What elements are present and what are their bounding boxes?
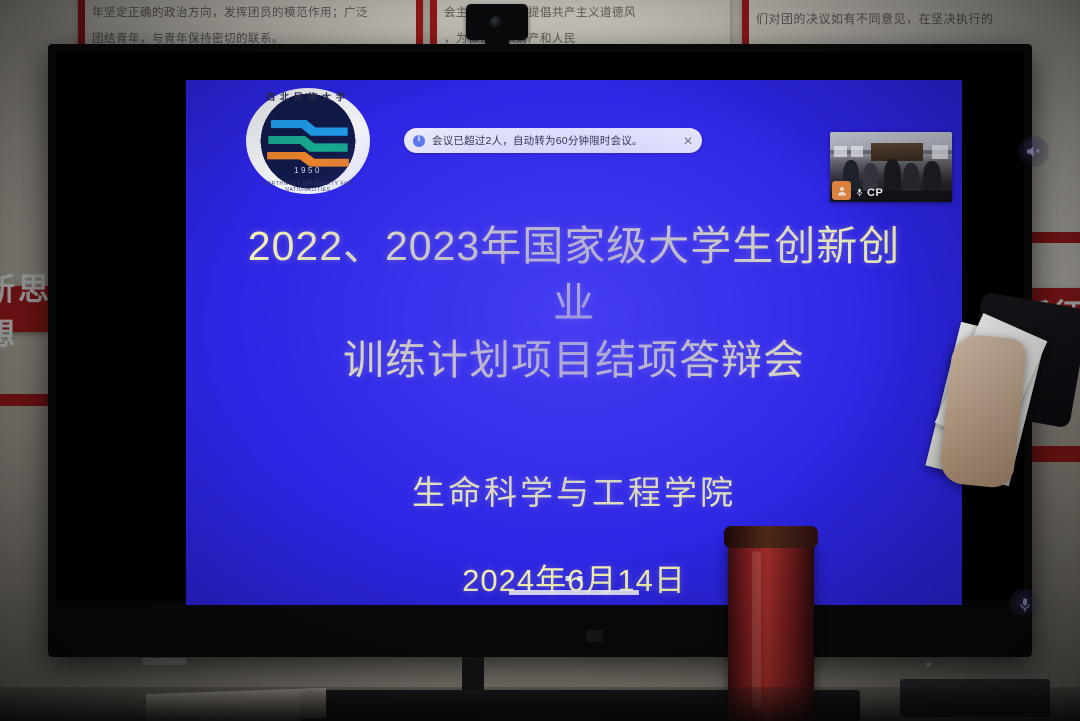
info-icon (413, 135, 425, 147)
close-icon[interactable]: ✕ (683, 135, 693, 147)
infrared-sensor (586, 630, 603, 642)
slide-title-line-1: 2022、2023年国家级大学生创新创 (198, 218, 950, 275)
display-monitor: 西北民族大学 1950 NORTHWEST UNIVERSITY FOR NAT… (48, 44, 1032, 657)
seal-english-name: NORTHWEST UNIVERSITY FOR NATIONALITIES (249, 181, 367, 193)
person-icon (832, 181, 851, 200)
presentation-screen: 西北民族大学 1950 NORTHWEST UNIVERSITY FOR NAT… (186, 80, 962, 605)
meeting-notice-text: 会议已超过2人，自动转为60分钟限时会议。 (432, 133, 676, 148)
participant-video-tile[interactable]: CP (830, 132, 952, 202)
slide-marker-dot (578, 576, 583, 581)
speaker-muted-icon[interactable] (1018, 136, 1049, 167)
meeting-notice-banner[interactable]: 会议已超过2人，自动转为60分钟限时会议。 ✕ (404, 128, 702, 153)
participant-label-group: CP (855, 186, 883, 199)
thermos-cap (724, 526, 818, 548)
participant-name: CP (867, 187, 883, 199)
microphone-icon (855, 186, 864, 199)
video-window (834, 146, 847, 157)
seal-founding-year: 1950 (246, 166, 370, 175)
slide-title-line-3: 训练计划项目结项答辩会 (198, 332, 950, 389)
microphone-icon[interactable] (1009, 589, 1040, 620)
foreground-table-edge (0, 687, 1080, 721)
slide-markers (566, 576, 583, 581)
video-person (884, 159, 901, 194)
slide-organization: 生命科学与工程学院 (186, 466, 962, 514)
slide-content: 西北民族大学 1950 NORTHWEST UNIVERSITY FOR NAT… (186, 80, 962, 605)
seal-chinese-name: 西北民族大学 (246, 90, 370, 103)
hand-holding-papers (938, 333, 1027, 490)
video-window (851, 146, 863, 157)
university-seal-logo: 西北民族大学 1950 NORTHWEST UNIVERSITY FOR NAT… (246, 88, 370, 194)
camera-lens-icon (490, 16, 503, 29)
monitor-brand-logo (142, 658, 186, 665)
presentation-room-scene: 年坚定正确的政治方向，发挥团员的模范作用；广泛 团结青年，与青年保持密切的联系。… (0, 0, 1080, 721)
monitor-indicator-light (926, 662, 931, 667)
video-person (903, 163, 919, 194)
video-window (932, 145, 948, 159)
webcam-device (466, 4, 528, 40)
video-chalkboard (871, 143, 922, 161)
slide-title-line-2: 业 (198, 275, 950, 332)
slide-title: 2022、2023年国家级大学生创新创 业 训练计划项目结项答辩会 (186, 218, 962, 389)
slide-marker-dot (566, 576, 571, 581)
slide-bottom-bar (509, 590, 639, 595)
monitor-screen-area: 西北民族大学 1950 NORTHWEST UNIVERSITY FOR NAT… (56, 52, 1024, 601)
